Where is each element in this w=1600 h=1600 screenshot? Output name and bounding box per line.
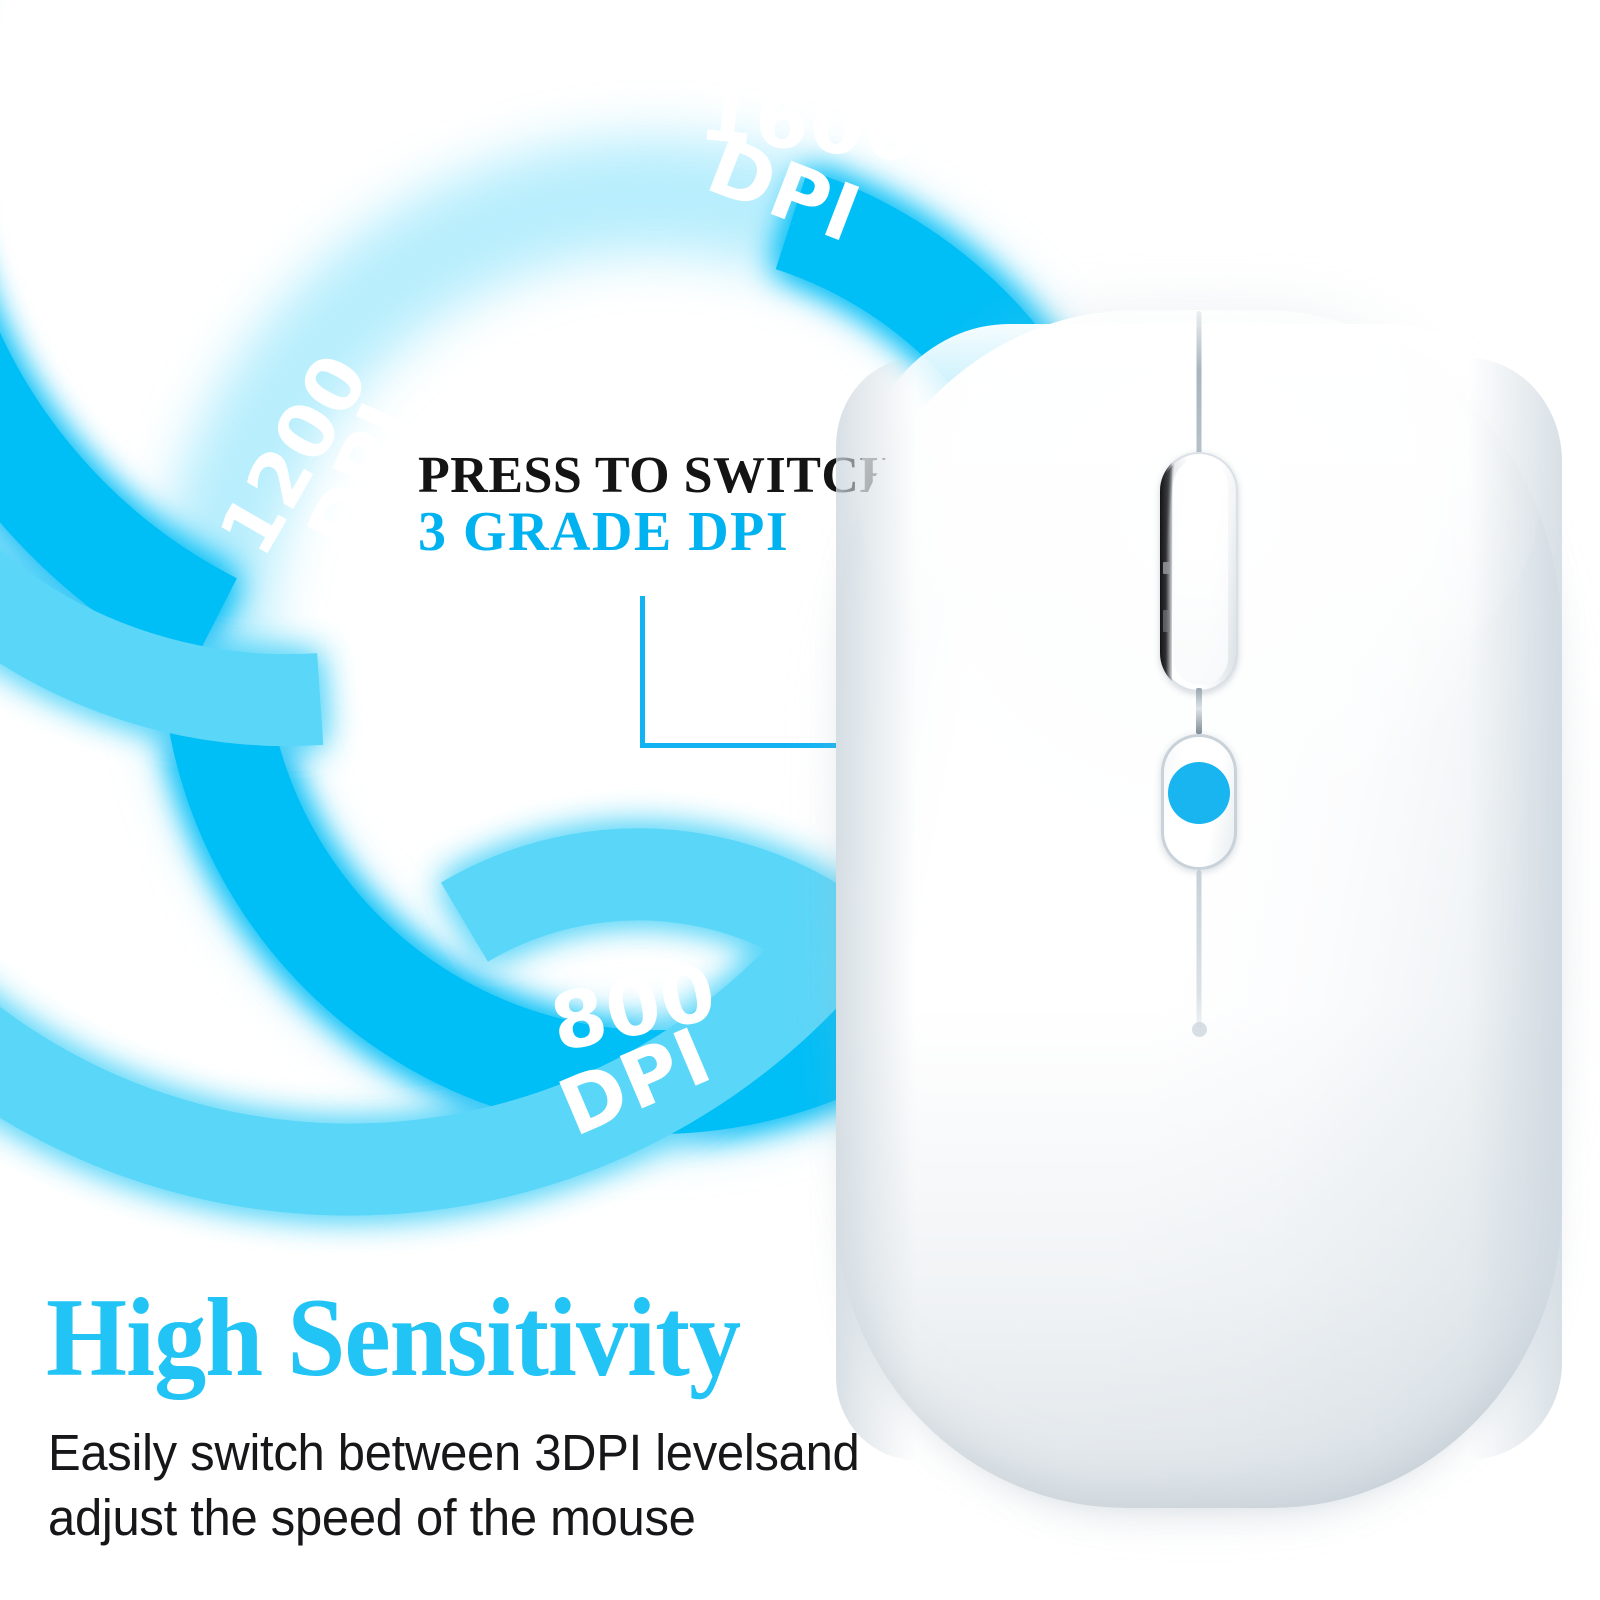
scroll-wheel[interactable]: [1160, 452, 1238, 692]
feature-headline: High Sensitivity: [46, 1274, 740, 1403]
infographic-canvas: 1600 DPI 1200 DPI 800 DPI PRESS TO SWITC…: [0, 0, 1600, 1600]
dial-inner-ring-seg2: [0, 167, 855, 1169]
dpi-label-800: 800 DPI: [531, 954, 732, 1140]
feature-description: Easily switch between 3DPI levelsand adj…: [48, 1420, 859, 1551]
wireless-mouse-image: [836, 310, 1562, 1508]
mouse-lower-seam: [1197, 870, 1202, 1028]
scroll-wheel-gloss: [1173, 459, 1228, 685]
scroll-wheel-tick: [1163, 562, 1170, 574]
dial-inner-ring-seg3: [0, 0, 320, 700]
mouse-middle-seam: [1196, 688, 1202, 734]
mouse-top-seam: [1197, 311, 1202, 459]
callout-line-1: PRESS TO SWITCH: [418, 448, 900, 503]
feature-description-line-2: adjust the speed of the mouse: [48, 1485, 859, 1550]
dpi-indicator-dot: [1168, 762, 1230, 824]
dpi-label-1600: 1600 DPI: [678, 72, 919, 248]
leader-vertical-segment: [640, 596, 645, 743]
feature-description-line-1: Easily switch between 3DPI levelsand: [48, 1420, 859, 1485]
dpi-label-1200: 1200 DPI: [216, 342, 436, 597]
scroll-wheel-tick-secondary: [1163, 610, 1170, 632]
dpi-switch-button[interactable]: [1161, 734, 1237, 870]
